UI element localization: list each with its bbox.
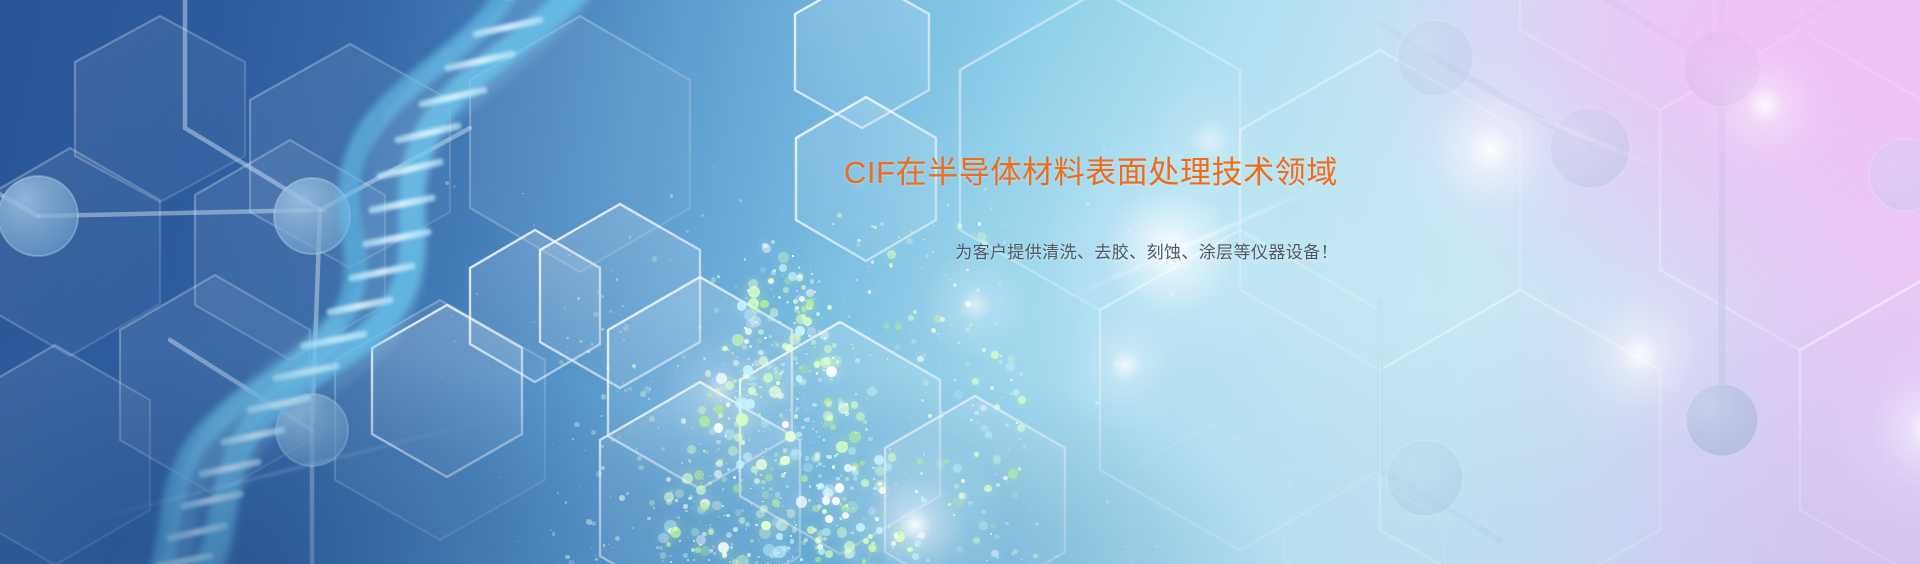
hero-banner: CIF在半导体材料表面处理技术领域 为客户提供清洗、去胶、刻蚀、涂层等仪器设备！ xyxy=(0,0,1920,564)
background-shadow-overlay xyxy=(0,0,1920,564)
